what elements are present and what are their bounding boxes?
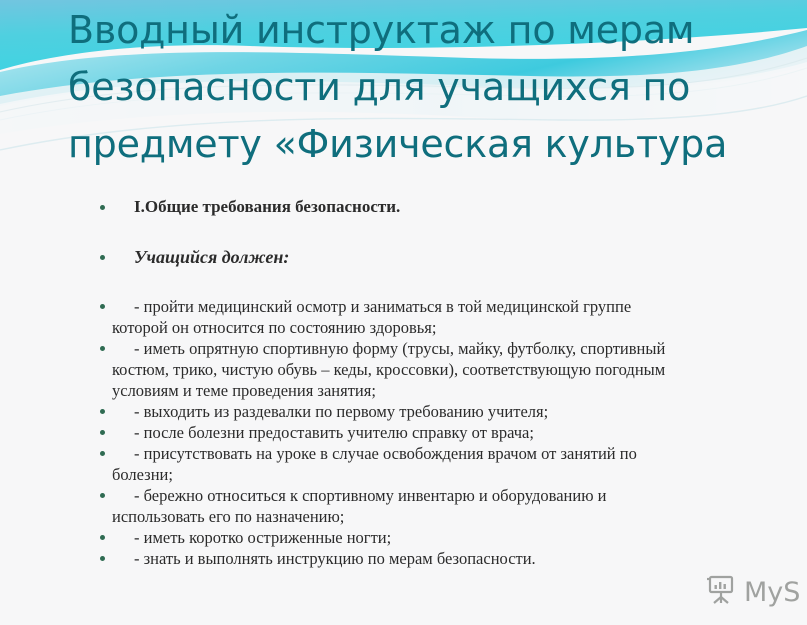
bullet-dot-icon	[100, 205, 105, 210]
bullet-dot-icon	[100, 535, 105, 540]
list-item-line: болезни;	[112, 464, 807, 485]
bullet-dot-icon	[100, 451, 105, 456]
list-item-text: - присутствовать на уроке в случае освоб…	[134, 443, 807, 485]
spacer	[96, 218, 807, 246]
bullet-dot-icon	[100, 409, 105, 414]
list-item-line: - присутствовать на уроке в случае освоб…	[134, 443, 807, 464]
list-item-text: - знать и выполнять инструкцию по мерам …	[134, 548, 807, 569]
list-item: - иметь коротко остриженные ногти;	[96, 527, 807, 548]
title-line-3: предмету «Физическая культура	[68, 116, 807, 173]
bullet-dot-icon	[100, 304, 105, 309]
list-item-text: Учащийся должен:	[134, 246, 807, 268]
list-item: - после болезни предоставить учителю спр…	[96, 422, 807, 443]
presentation-easel-chart-icon	[704, 573, 738, 612]
list-item-line: условиям и теме проведения занятия;	[112, 380, 807, 401]
bullet-dot-icon	[100, 430, 105, 435]
list-item-text: - бережно относиться к спортивному инвен…	[134, 485, 807, 527]
list-item: - пройти медицинский осмотр и заниматься…	[96, 296, 807, 338]
spacer	[96, 268, 807, 296]
title-line-1: Вводный инструктаж по мерам	[68, 2, 807, 59]
list-item-subheading: Учащийся должен:	[96, 246, 807, 268]
list-item-heading: I.Общие требования безопасности.	[96, 196, 807, 218]
presentation-slide: Вводный инструктаж по мерам безопасности…	[0, 0, 807, 625]
list-item-line: которой он относится по состоянию здоров…	[112, 317, 807, 338]
list-item-line: - иметь опрятную спортивную форму (трусы…	[134, 338, 807, 359]
list-item: - иметь опрятную спортивную форму (трусы…	[96, 338, 807, 401]
list-item-text: - после болезни предоставить учителю спр…	[134, 422, 807, 443]
watermark-text: MyS	[744, 577, 800, 608]
slide-title: Вводный инструктаж по мерам безопасности…	[68, 2, 807, 173]
list-item: - присутствовать на уроке в случае освоб…	[96, 443, 807, 485]
bullet-dot-icon	[100, 493, 105, 498]
list-item: - выходить из раздевалки по первому треб…	[96, 401, 807, 422]
list-item-text: - иметь коротко остриженные ногти;	[134, 527, 807, 548]
list-item-text: - иметь опрятную спортивную форму (трусы…	[134, 338, 807, 401]
slide-body-list: I.Общие требования безопасности. Учащийс…	[96, 196, 807, 569]
bullet-dot-icon	[100, 346, 105, 351]
watermark: MyS	[704, 573, 800, 612]
list-item-line: - бережно относиться к спортивному инвен…	[134, 485, 807, 506]
list-item: - бережно относиться к спортивному инвен…	[96, 485, 807, 527]
list-item-line: использовать его по назначению;	[112, 506, 807, 527]
list-item-line: - пройти медицинский осмотр и заниматься…	[134, 296, 807, 317]
bullet-dot-icon	[100, 556, 105, 561]
list-item-text: - выходить из раздевалки по первому треб…	[134, 401, 807, 422]
list-item-line: костюм, трико, чистую обувь – кеды, крос…	[112, 359, 807, 380]
list-item: - знать и выполнять инструкцию по мерам …	[96, 548, 807, 569]
title-line-2: безопасности для учащихся по	[68, 59, 807, 116]
list-item-text: - пройти медицинский осмотр и заниматься…	[134, 296, 807, 338]
bullet-dot-icon	[100, 255, 105, 260]
list-item-text: I.Общие требования безопасности.	[134, 196, 807, 218]
